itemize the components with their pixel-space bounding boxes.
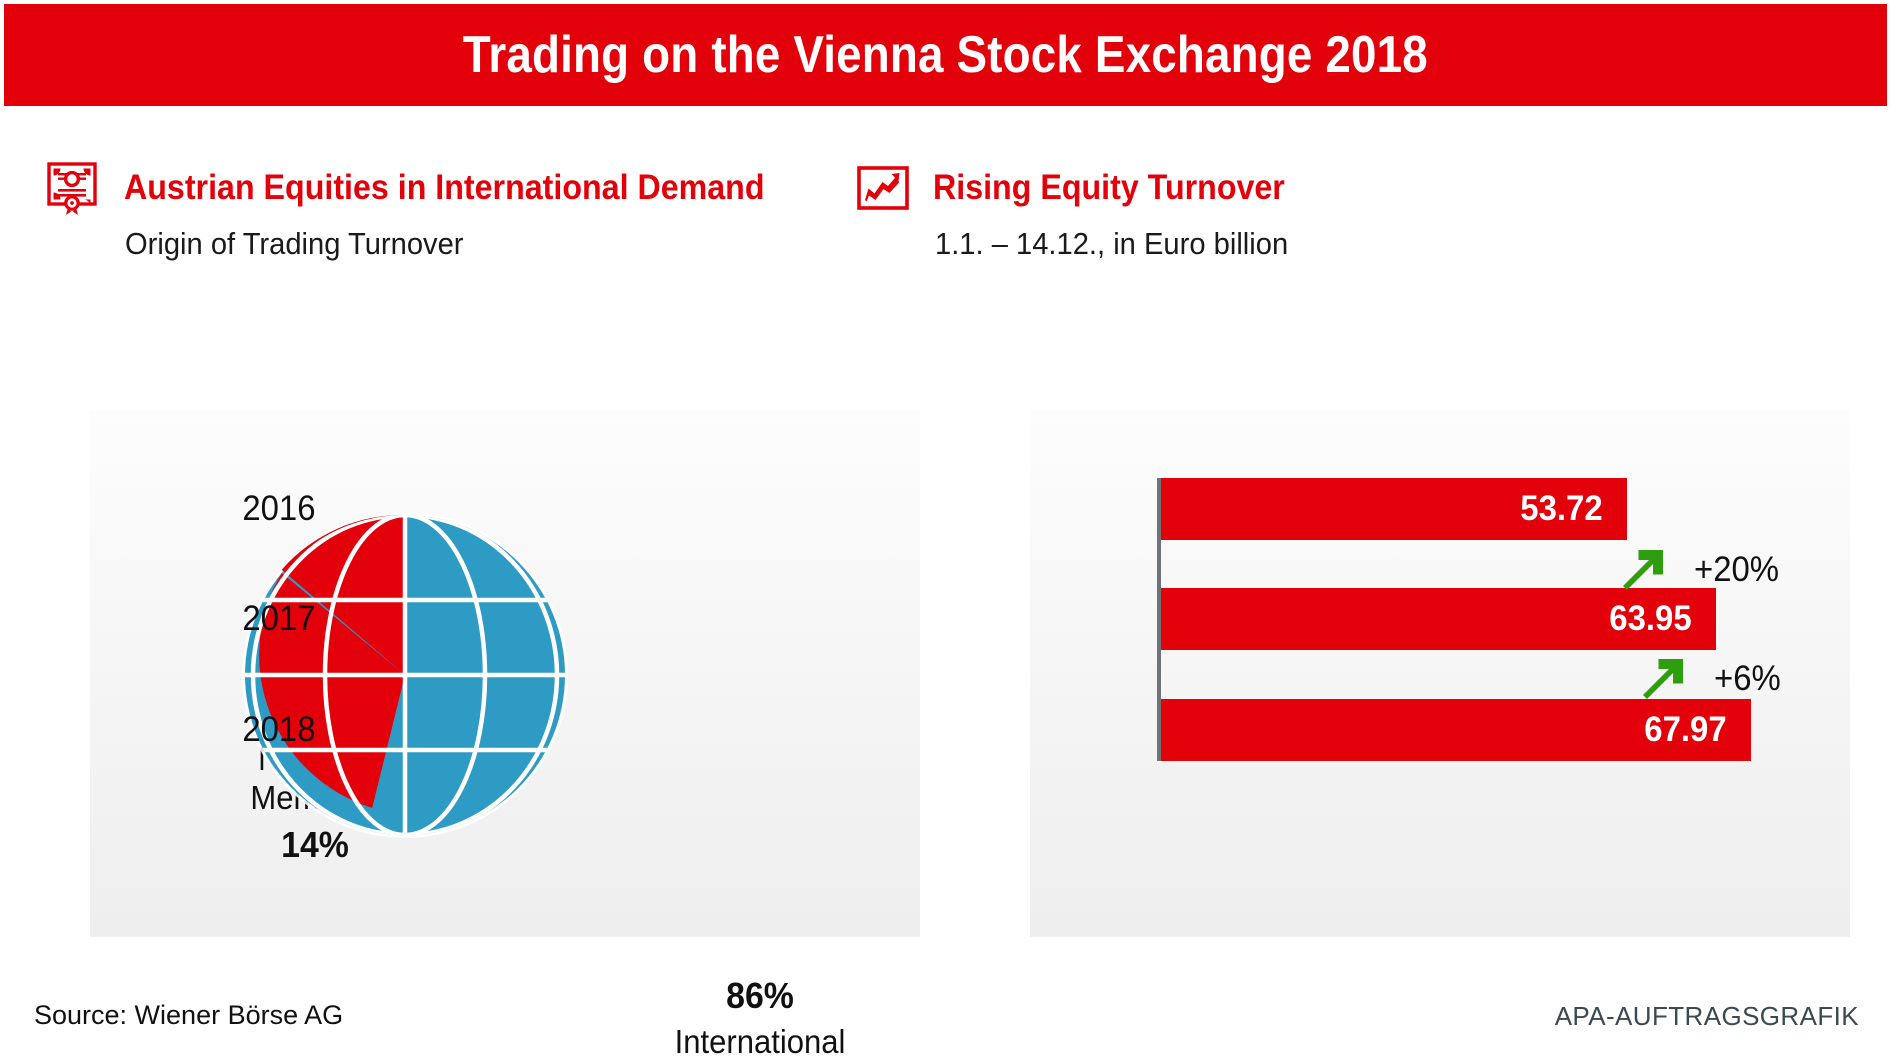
bar-value-label: 53.72 [1521,489,1624,529]
pie-label-international: 86% International Members [635,975,885,1064]
bar-fill: 67.97 [1161,699,1751,761]
panel-pie-chart: National Members 14% [90,410,920,937]
bar-category-label: 2016 [242,489,315,529]
page-title: Trading on the Vienna Stock Exchange 201… [463,25,1428,85]
infographic-root: Trading on the Vienna Stock Exchange 201… [0,0,1891,1064]
bar-category-label: 2017 [242,599,315,639]
arrow-up-right-icon [1620,547,1666,593]
growth-value-label: +6% [1714,659,1781,699]
section-header-turnover: Rising Equity Turnover [855,160,1315,216]
growth-indicator: +20% [1620,547,1785,593]
section-title-turnover: Rising Equity Turnover [933,168,1285,208]
pie-label-international-line1: International [643,1023,878,1062]
rising-chart-icon [855,160,911,216]
section-subtitle-equities: Origin of Trading Turnover [125,226,464,262]
certificate-icon [46,160,102,216]
bar-fill: 53.72 [1161,478,1627,540]
section-title-equities: Austrian Equities in International Deman… [124,168,765,208]
bar-category-label: 2018 [242,710,315,750]
panel-bar-chart: 2016 53.72 2017 63.95 2018 67.97 [1030,410,1850,937]
growth-indicator: +6% [1640,656,1785,702]
section-header-equities: Austrian Equities in International Deman… [46,160,820,216]
arrow-up-right-icon [1640,656,1686,702]
credit-note: APA-AUFTRAGSGRAFIK [1555,1001,1859,1032]
globe-pie-chart [240,510,570,840]
section-subtitle-turnover: 1.1. – 14.12., in Euro billion [935,226,1288,262]
pie-value-international: 86% [643,975,878,1017]
bar-value-label: 63.95 [1610,599,1713,639]
growth-value-label: +20% [1694,550,1779,590]
bar-value-label: 67.97 [1645,710,1748,750]
title-banner: Trading on the Vienna Stock Exchange 201… [4,4,1887,106]
bar-fill: 63.95 [1161,588,1716,650]
source-note: Source: Wiener Börse AG [34,1000,343,1031]
bar-chart: 2016 53.72 2017 63.95 2018 67.97 [1030,410,1850,937]
